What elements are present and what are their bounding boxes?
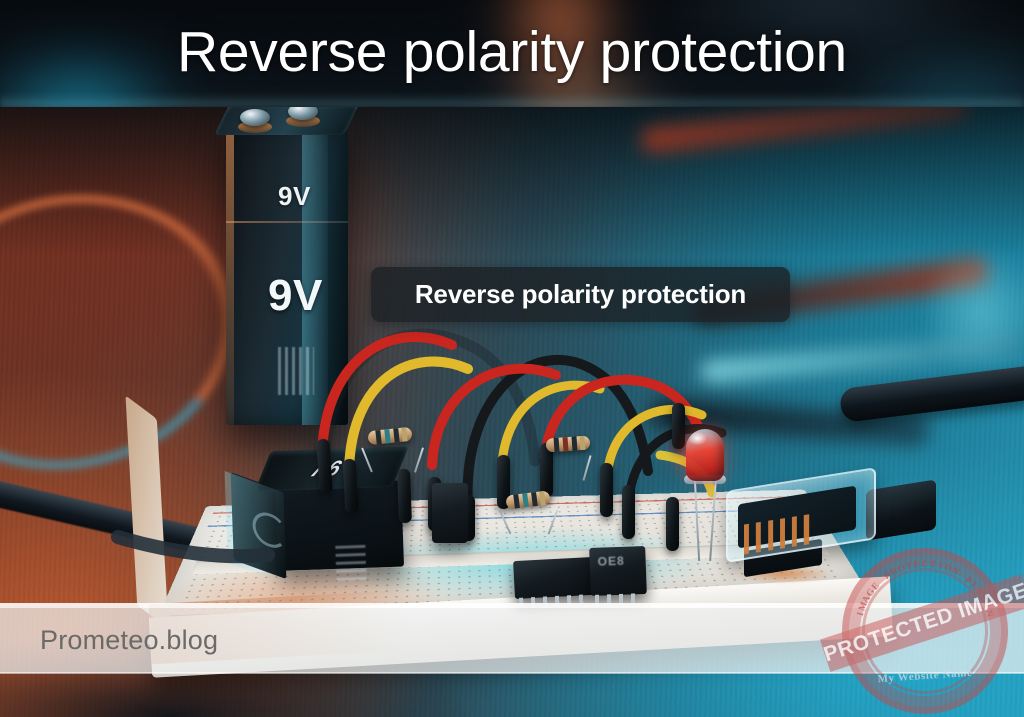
wire-end-post-9 bbox=[622, 485, 635, 539]
wire-end-post-8 bbox=[600, 463, 613, 517]
battery-label-large: 9V bbox=[268, 271, 323, 321]
ic-chip-1 bbox=[513, 557, 595, 599]
watermark-arc-char: T bbox=[929, 560, 937, 571]
image-canvas: Reverse polarity protection bbox=[0, 0, 1024, 717]
wire-end-post-2 bbox=[343, 459, 359, 514]
watermark-arc-char: C bbox=[921, 560, 928, 570]
overlay-badge: Reverse polarity protection bbox=[371, 267, 790, 322]
battery-seam bbox=[226, 221, 348, 223]
protected-image-watermark: IMAGEPROTECTIONPLUGIN PROTECTED IMAGE My… bbox=[842, 548, 1008, 714]
battery2-front-face bbox=[275, 481, 404, 571]
9v-battery-standing: 9V 9V bbox=[226, 125, 348, 425]
footer-site-name: Prometeo.blog bbox=[40, 608, 218, 673]
9v-battery-lying: 9V bbox=[256, 446, 408, 571]
page-title: Reverse polarity protection bbox=[0, 0, 1024, 107]
battery-label-small: 9V bbox=[278, 181, 311, 212]
watermark-arc-char: E bbox=[913, 560, 921, 571]
overlay-badge-label: Reverse polarity protection bbox=[415, 279, 746, 310]
battery-body: 9V 9V bbox=[226, 125, 348, 425]
battery2-print-bars bbox=[335, 540, 366, 581]
battery-terminal-negative bbox=[240, 109, 270, 126]
wire-end-post-3 bbox=[397, 469, 412, 523]
wire-end-post-11 bbox=[672, 403, 685, 449]
background-light-bloom bbox=[930, 257, 1024, 367]
ic-marking: OE8 bbox=[597, 554, 624, 569]
ic-chip-2: OE8 bbox=[589, 546, 647, 596]
wire-end-post-10 bbox=[666, 497, 679, 551]
ic-chip-3 bbox=[432, 483, 468, 543]
battery-left-edge-light bbox=[226, 125, 234, 425]
led-dome bbox=[686, 429, 724, 481]
battery-barcode bbox=[278, 347, 314, 395]
